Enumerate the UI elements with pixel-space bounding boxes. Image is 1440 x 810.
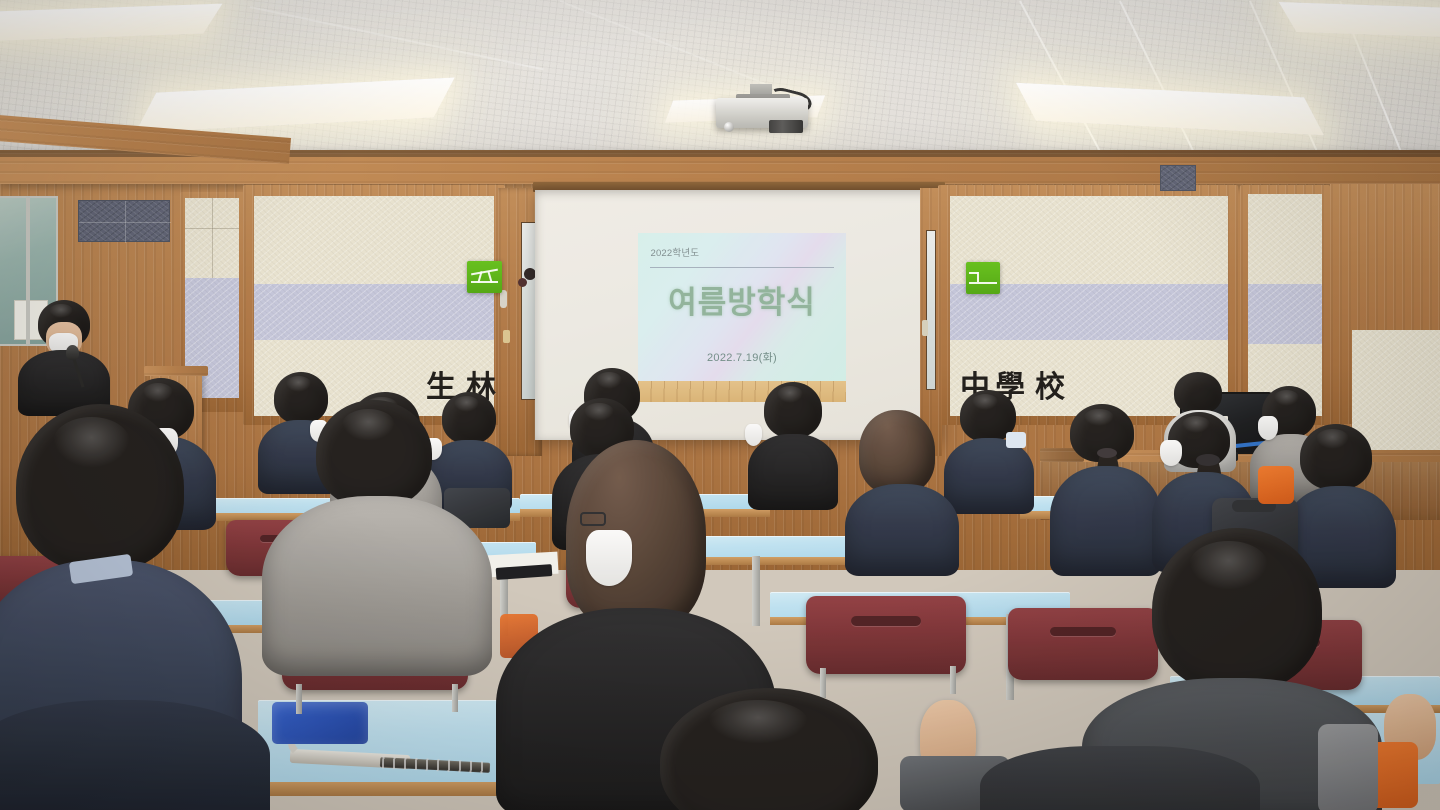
face-mask: [1160, 440, 1182, 466]
door-handle[interactable]: [503, 330, 510, 343]
hair-highlight: [1084, 409, 1113, 426]
acoustic-panel-right: [1160, 165, 1196, 191]
student-hair: [764, 382, 822, 438]
slide-title: 여름방학식: [638, 277, 846, 322]
student-hair: [16, 404, 184, 572]
student-torso: [262, 496, 492, 676]
hair-highlight: [143, 383, 173, 402]
student-hair: [1152, 528, 1322, 692]
grey-jacket: [1318, 724, 1378, 810]
hair-highlight: [777, 386, 804, 403]
face-mask: [586, 530, 632, 586]
projector-ports: [769, 120, 803, 133]
blue-bag: [272, 702, 368, 744]
exit-sign-stripe: [471, 281, 498, 283]
face-mask: [1258, 416, 1278, 440]
microphone-head: [66, 345, 79, 360]
projected-slide: 2022학년도 여름방학식 2022.7.19(화): [638, 233, 846, 381]
exit-sign-stripe: [471, 269, 498, 276]
wall-panel-cream: [1248, 194, 1322, 284]
hair-highlight: [584, 403, 613, 421]
hair-highlight: [1316, 429, 1349, 449]
student-foreground-bottom: [600, 688, 940, 810]
slide-divider-rule: [650, 267, 833, 268]
student-back-row: [944, 390, 1032, 512]
wall-panel-lavender: [1248, 284, 1322, 344]
orange-garment: [1258, 466, 1294, 504]
exit-sign-stripe: [969, 282, 997, 284]
student-mid-row: [845, 410, 955, 570]
student-torso: [944, 438, 1034, 514]
chair-leg: [950, 666, 956, 694]
door-handle-right[interactable]: [922, 320, 928, 336]
slide-date: 2022.7.19(화): [638, 349, 846, 365]
student-bottom-left-shoulder: [0, 700, 270, 810]
student-back-row: [748, 382, 836, 506]
hair-highlight: [49, 304, 73, 318]
hair-tie: [1097, 448, 1117, 458]
ceiling-projector: [716, 84, 808, 128]
student-bottom-right-shoulder: [980, 746, 1260, 810]
podium-top: [144, 366, 208, 376]
hair-highlight: [1189, 541, 1267, 590]
presenter-at-podium: [18, 300, 108, 410]
emergency-exit-sign-right: [966, 262, 1000, 294]
projector-body: [716, 98, 808, 128]
student-hair: [316, 400, 432, 508]
hair-highlight: [708, 700, 808, 744]
hair-highlight: [972, 394, 998, 410]
photo-scene: 生 林 2022학년도 여름방학식 2022.7.19(화) 中 學 校: [0, 0, 1440, 810]
student-torso: [845, 484, 959, 576]
slide-year-label: 2022학년도: [650, 245, 699, 259]
chair-handle-slot: [851, 616, 921, 626]
student-hair: [566, 440, 706, 630]
exit-sign-stripe: [977, 272, 979, 282]
acoustic-panel: [78, 200, 170, 242]
student-hair: [859, 410, 935, 494]
chair[interactable]: [806, 596, 966, 674]
panel-divider: [79, 222, 171, 223]
emergency-exit-sign: [467, 261, 502, 293]
eyeglasses: [580, 512, 606, 526]
door-decal: [518, 278, 527, 287]
student-hair: [660, 688, 878, 810]
hair-highlight: [342, 409, 395, 441]
student-foreground-grey: [262, 400, 490, 700]
student-hair: [1174, 372, 1222, 414]
hair-highlight: [1274, 390, 1299, 406]
door-window-right: [926, 230, 936, 390]
projector-lens: [724, 122, 734, 132]
panel-grid-line: [212, 198, 213, 278]
hair-highlight: [53, 417, 130, 467]
hair-highlight: [596, 372, 622, 388]
shirt-collar: [1006, 432, 1026, 448]
wall-sign-char: 校: [1035, 362, 1065, 406]
chair-back: [806, 596, 966, 674]
student-torso: [748, 434, 838, 510]
wall-panel-cream: [254, 196, 494, 284]
hair-tie: [1196, 454, 1220, 466]
wall-panel-lavender: [254, 284, 494, 340]
hair-highlight: [286, 376, 311, 392]
student-hair: [1300, 424, 1372, 490]
hair-highlight: [1182, 416, 1211, 433]
